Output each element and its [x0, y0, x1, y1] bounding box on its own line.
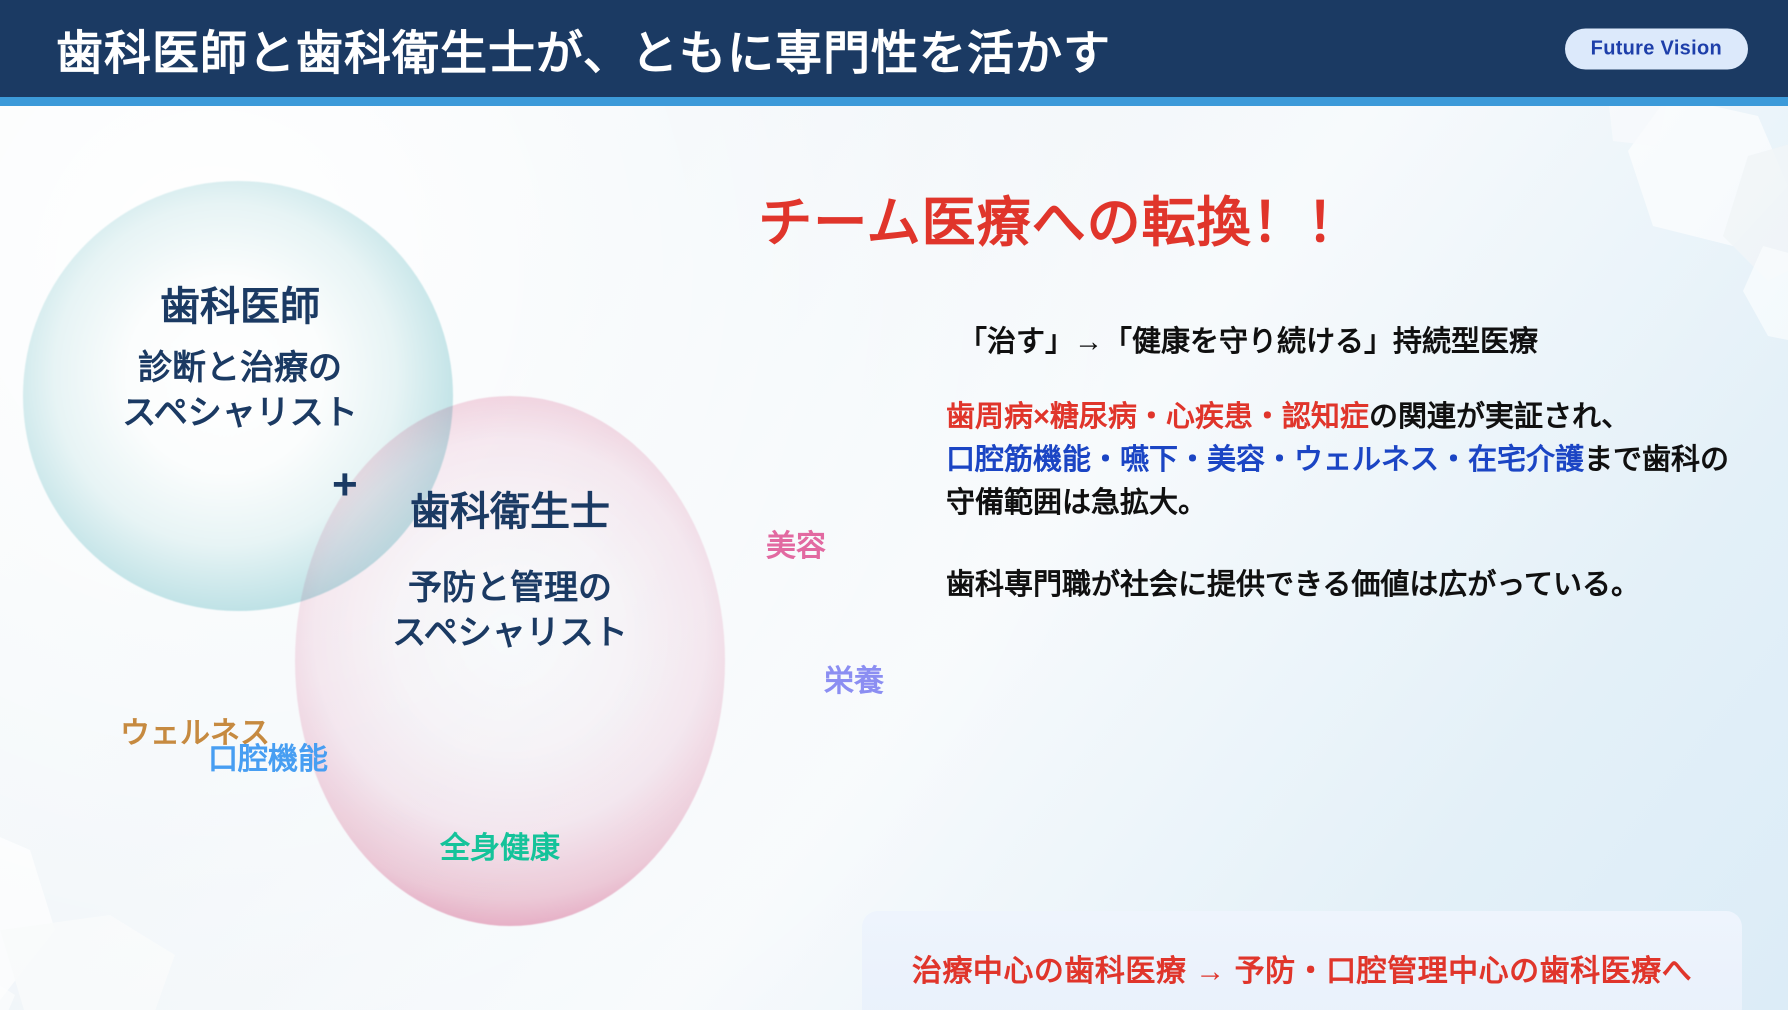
dentist-title: 歯科医師	[60, 281, 420, 334]
main-headline: チーム医療への転換！！	[700, 178, 1420, 257]
sustaining-care-line: 「治す」→「健康を守り続ける」持続型医療	[958, 318, 1538, 360]
hygienist-title: 歯科衛生士	[300, 486, 720, 539]
decor-polygons-bottom-left	[0, 800, 260, 1010]
scope-black-phrase-1: の関連が実証され、	[1369, 401, 1630, 433]
keyword-eiyo: 栄養	[824, 656, 884, 700]
dentist-subtitle-line2: スペシャリスト	[40, 391, 440, 436]
hygienist-subtitle-line2: スペシャリスト	[300, 611, 720, 656]
dentist-subtitle-line1: 診断と治療の	[40, 346, 440, 391]
scope-paragraph: 歯周病×糖尿病・心疾患・認知症の関連が実証され、 口腔筋機能・嚥下・美容・ウェル…	[946, 396, 1746, 525]
slide-header: 歯科医師と歯科衛生士が、ともに専門性を活かす Future Vision	[0, 0, 1788, 97]
slide-body: チーム医療への転換！！ 歯科医師 診断と治療の スペシャリスト + 歯科衛生士 …	[0, 106, 1788, 1010]
header-accent-bar	[0, 97, 1788, 106]
hygienist-subtitle-line1: 予防と管理の	[300, 566, 720, 611]
transition-callout-text: 治療中心の歯科医療 → 予防・口腔管理中心の歯科医療へ	[912, 946, 1692, 990]
keyword-biyo: 美容	[766, 521, 826, 565]
hygienist-subtitle: 予防と管理の スペシャリスト	[300, 566, 720, 656]
decor-polygons-top-right	[1518, 106, 1788, 356]
keyword-zenshin-kenkou: 全身健康	[440, 823, 560, 867]
future-vision-badge: Future Vision	[1565, 28, 1748, 69]
transition-callout-box: 治療中心の歯科医療 → 予防・口腔管理中心の歯科医療へ	[862, 911, 1742, 1010]
scope-blue-phrase: 口腔筋機能・嚥下・美容・ウェルネス・在宅介護	[946, 444, 1584, 476]
value-expansion-line: 歯科専門職が社会に提供できる価値は広がっている。	[946, 561, 1640, 603]
page-title: 歯科医師と歯科衛生士が、ともに専門性を活かす	[56, 14, 1111, 83]
dentist-subtitle: 診断と治療の スペシャリスト	[40, 346, 440, 436]
keyword-koku-kinou: 口腔機能	[208, 734, 328, 778]
scope-red-phrase: 歯周病×糖尿病・心疾患・認知症	[946, 401, 1369, 433]
slide-root: 歯科医師と歯科衛生士が、ともに専門性を活かす Future Vision チーム…	[0, 0, 1788, 1010]
